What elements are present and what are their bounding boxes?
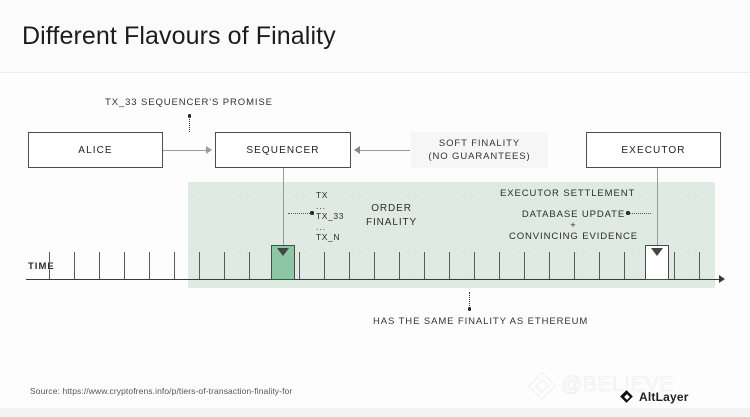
- timeline-tick: [524, 252, 525, 280]
- ethereum-finality-caption: HAS THE SAME FINALITY AS ETHEREUM: [373, 316, 588, 327]
- timeline-tick: [449, 252, 450, 280]
- timeline-tick: [199, 252, 200, 280]
- page-title: Different Flavours of Finality: [22, 22, 336, 51]
- timeline-tick: [399, 252, 400, 280]
- timeline-arrow-head-icon: [719, 275, 725, 283]
- timeline-tick: [674, 252, 675, 280]
- node-label-executor: EXECUTOR: [621, 145, 685, 156]
- slide-canvas: Different Flavours of Finality TX_33 SEQ…: [0, 0, 750, 417]
- arrow-alice-to-sequencer: [163, 150, 207, 151]
- ethereum-dotted-connector: [469, 292, 470, 308]
- ethereum-dot-marker: [468, 307, 472, 311]
- timeline-block-sequenced[interactable]: [271, 245, 295, 280]
- order-finality-line-1: ORDER: [366, 202, 417, 216]
- chevron-down-icon: [651, 248, 663, 256]
- diamond-icon: [528, 372, 554, 398]
- timeline-tick: [249, 252, 250, 280]
- tx-list-item-0: TX: [316, 190, 344, 201]
- altlayer-wordmark: AltLayer: [639, 390, 689, 404]
- tx-list-item-3: ...: [316, 222, 344, 233]
- time-axis-label: TIME: [28, 261, 55, 272]
- timeline-tick: [324, 252, 325, 280]
- timeline-block-settled[interactable]: [645, 245, 669, 280]
- timeline-tick: [474, 252, 475, 280]
- database-update-label: DATABASE UPDATE + CONVINCING EVIDENCE: [509, 209, 638, 242]
- node-box-sequencer[interactable]: SEQUENCER: [215, 132, 351, 168]
- timeline-tick: [149, 252, 150, 280]
- tx-list-item-1: ...: [316, 201, 344, 212]
- altlayer-diamond-icon: [619, 389, 634, 404]
- footer-band: [0, 408, 750, 417]
- timeline-tick: [424, 252, 425, 280]
- node-box-alice[interactable]: ALICE: [28, 132, 163, 168]
- timeline-tick: [499, 252, 500, 280]
- timeline-tick: [574, 252, 575, 280]
- order-finality-line-2: FINALITY: [366, 216, 417, 230]
- tx-list: TX ... TX_33 ... TX_N: [316, 190, 344, 243]
- promise-caption: TX_33 SEQUENCER'S PROMISE: [105, 97, 273, 108]
- promise-dotted-connector: [189, 116, 190, 132]
- timeline-tick: [349, 252, 350, 280]
- executor-drop-line: [657, 168, 658, 246]
- timeline-tick: [224, 252, 225, 280]
- timeline-tick: [374, 252, 375, 280]
- soft-finality-line-1: SOFT FINALITY: [439, 137, 520, 150]
- executor-settlement-label: EXECUTOR SETTLEMENT: [500, 188, 635, 199]
- altlayer-logo-lockup: AltLayer: [619, 389, 689, 404]
- database-update-line-2: +: [509, 220, 638, 231]
- soft-finality-label: SOFT FINALITY (NO GUARANTEES): [411, 132, 548, 168]
- timeline-tick: [174, 252, 175, 280]
- timeline-tick: [74, 252, 75, 280]
- database-update-line-3: CONVINCING EVIDENCE: [509, 231, 638, 242]
- timeline-tick: [549, 252, 550, 280]
- arrow-softfinality-to-sequencer: [356, 150, 410, 151]
- sequencer-drop-line: [283, 168, 284, 246]
- timeline-tick: [99, 252, 100, 280]
- tx-list-item-4: TX_N: [316, 232, 344, 243]
- tx-list-item-2: TX_33: [316, 211, 344, 222]
- timeline-tick: [124, 252, 125, 280]
- timeline-axis: [26, 279, 720, 280]
- chevron-down-icon: [277, 248, 289, 256]
- tx-dotted-connector: [288, 213, 312, 214]
- database-update-line-1: DATABASE UPDATE: [509, 209, 638, 220]
- timeline-tick: [49, 252, 50, 280]
- source-note: Source: https://www.cryptofrens.info/p/t…: [30, 386, 292, 396]
- node-label-sequencer: SEQUENCER: [246, 145, 319, 156]
- timeline-tick: [624, 252, 625, 280]
- evidence-dotted-connector: [628, 213, 651, 214]
- timeline-tick: [599, 252, 600, 280]
- node-label-alice: ALICE: [78, 145, 112, 156]
- arrow-head-right-icon: [206, 146, 212, 154]
- node-box-executor[interactable]: EXECUTOR: [586, 132, 721, 168]
- arrow-head-left-icon: [354, 146, 360, 154]
- timeline-tick: [699, 252, 700, 280]
- soft-finality-line-2: (NO GUARANTEES): [428, 150, 530, 163]
- timeline-tick: [299, 252, 300, 280]
- order-finality-label: ORDER FINALITY: [366, 202, 417, 230]
